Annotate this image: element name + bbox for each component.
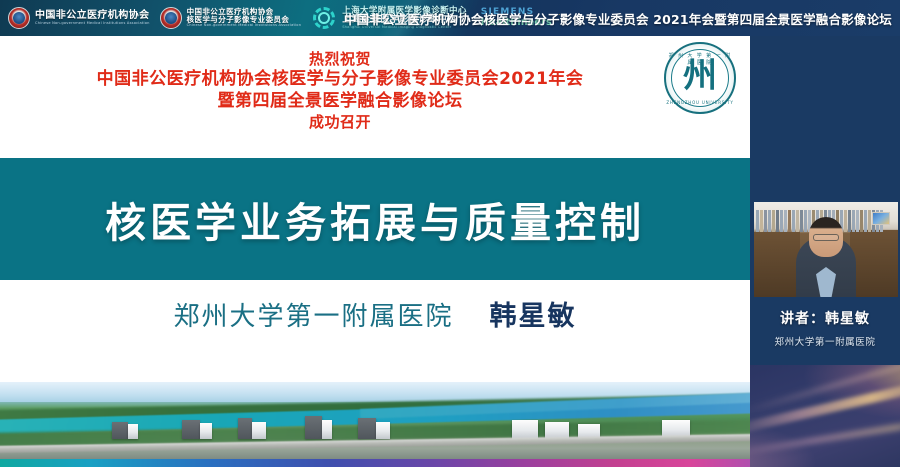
wall-picture-icon (872, 212, 890, 225)
slide-presenter-row: 郑州大学第一附属医院 韩星敏 (0, 294, 750, 333)
banner-title: 中国非公立医疗机构协会核医学与分子影像专业委员会 2021年会暨第四届全景医学融… (344, 0, 892, 36)
speaker-org-label: 郑州大学第一附属医院 (750, 334, 900, 348)
medical-association-emblem-icon (8, 7, 30, 29)
nmc-logo-en: Chinese Non-government Medical Instituti… (187, 24, 302, 27)
congrats-line-4: 成功召开 (0, 113, 680, 132)
slide-bottom-color-strip (0, 459, 750, 467)
speaker-side-panel: 讲者：韩星敏 郑州大学第一附属医院 (750, 36, 900, 467)
seal-arc-bottom: ZHENGZHOU UNIVERSITY (666, 100, 734, 105)
slide-presenter-organization: 郑州大学第一附属医院 (173, 296, 453, 333)
congratulations-block: 热烈祝贺 中国非公医疗机构协会核医学与分子影像专业委员会2021年会 暨第四届全… (0, 50, 680, 132)
glasses-icon (813, 234, 839, 241)
slide-presenter-name: 韩星敏 (490, 294, 577, 333)
slide-title-band: 核医学业务拓展与质量控制 (0, 158, 750, 280)
congrats-line-1: 热烈祝贺 (0, 50, 680, 69)
nmc-logo-cn2: 核医学与分子影像专业委员会 (187, 16, 302, 24)
medical-association-emblem-icon (160, 7, 182, 29)
gear-burst-icon (311, 5, 337, 31)
cnahmi-logo: 中国非公立医疗机构协会 Chinese Non-government Medic… (8, 0, 160, 36)
slide-area: 热烈祝贺 中国非公医疗机构协会核医学与分子影像专业委员会2021年会 暨第四届全… (0, 36, 750, 467)
cnahmi-logo-en: Chinese Non-government Medical Instituti… (35, 22, 150, 25)
conference-logo-banner: 中国非公立医疗机构协会 Chinese Non-government Medic… (0, 0, 900, 36)
university-seal-icon: 郑 州 大 学 第 一 附 属 医 院 州 ZHENGZHOU UNIVERSI… (664, 42, 736, 114)
speaker-video-feed[interactable] (754, 202, 898, 297)
congrats-line-2: 中国非公医疗机构协会核医学与分子影像专业委员会2021年会 (0, 69, 680, 91)
livestream-presentation-screen: 中国非公立医疗机构协会 Chinese Non-government Medic… (0, 0, 900, 467)
cnahmi-logo-cn: 中国非公立医疗机构协会 (35, 11, 150, 21)
speaker-name-label: 讲者：韩星敏 (750, 308, 900, 328)
hospital-campus-aerial-photo (0, 382, 750, 459)
panel-aurora-decoration (750, 365, 900, 467)
nuclear-medicine-committee-logo: 中国非公立医疗机构协会 核医学与分子影像专业委员会 Chinese Non-go… (160, 0, 312, 36)
congrats-line-3: 暨第四届全景医学融合影像论坛 (0, 91, 680, 113)
slide-main-title: 核医学业务拓展与质量控制 (105, 189, 645, 249)
